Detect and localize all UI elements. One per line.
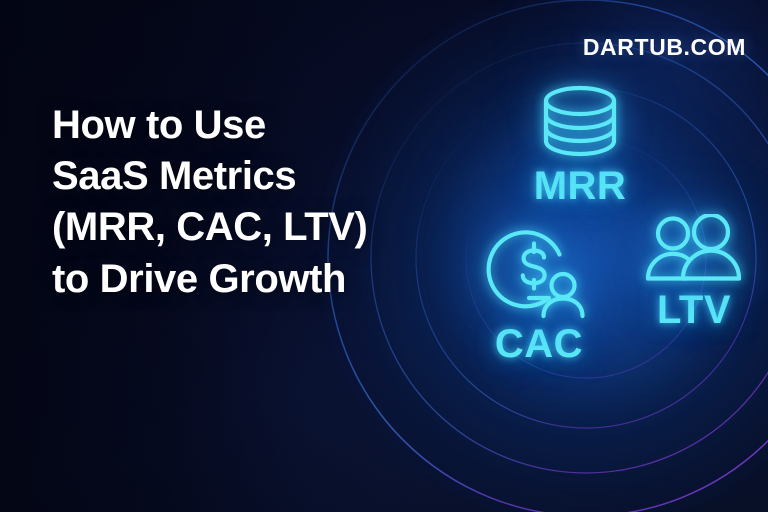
metric-mrr-label: MRR: [487, 166, 673, 206]
dollar-circle-person-icon: [485, 228, 593, 320]
metric-cac-label: CAC: [462, 324, 616, 364]
metric-cac: CAC: [462, 228, 616, 364]
title-line-4: to Drive Growth: [52, 254, 432, 305]
metric-ltv-label: LTV: [618, 290, 768, 330]
title-line-3: (MRR, CAC, LTV): [52, 202, 432, 253]
thumbnail-canvas: DARTUB.COM How to Use SaaS Metrics (MRR,…: [0, 0, 768, 512]
title-line-1: How to Use: [52, 100, 432, 151]
title-line-2: SaaS Metrics: [52, 151, 432, 202]
metric-ltv: LTV: [618, 214, 768, 330]
users-group-icon: [643, 214, 745, 288]
page-title: How to Use SaaS Metrics (MRR, CAC, LTV) …: [52, 100, 432, 305]
database-stack-icon: [537, 84, 623, 158]
metric-mrr: MRR: [487, 84, 673, 206]
brand-logo-text: DARTUB.COM: [583, 34, 746, 61]
